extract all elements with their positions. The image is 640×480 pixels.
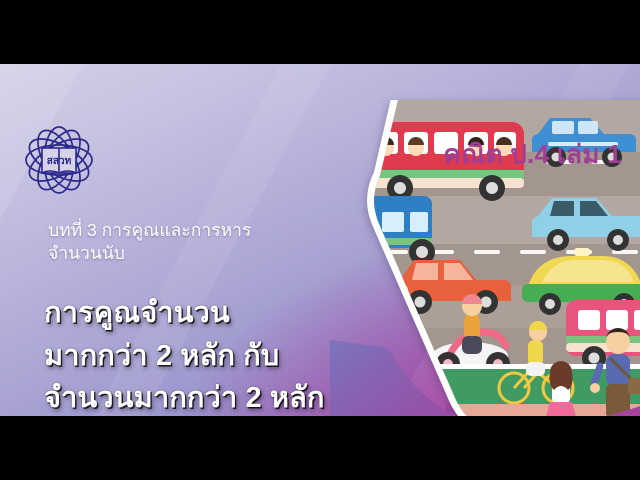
lesson-title: การคูณจำนวน มากกว่า 2 หลัก กับ จำนวนมากก… <box>44 292 394 416</box>
chapter-subtitle-line-2: จำนวนนับ <box>48 242 348 265</box>
ipst-logo: สสวท <box>22 122 96 198</box>
lesson-title-line-3: จำนวนมากกว่า 2 หลัก <box>44 377 394 416</box>
slide-stage: สสวท บทที่ 3 การคูณและการหาร จำนวนนับ กา… <box>0 0 640 480</box>
bike-lane-symbol <box>402 378 444 398</box>
letterbox-bottom-bar <box>0 416 640 480</box>
logo-book-text: สสวท <box>47 156 72 167</box>
sidewalk-band <box>352 404 640 416</box>
letterbox-top-bar <box>0 0 640 64</box>
jogger <box>391 309 411 376</box>
chapter-subtitle-line-1: บทที่ 3 การคูณและการหาร <box>48 219 348 242</box>
lesson-title-line-2: มากกว่า 2 หลัก กับ <box>44 335 394 378</box>
chapter-subtitle: บทที่ 3 การคูณและการหาร จำนวนนับ <box>48 219 348 266</box>
lesson-title-line-1: การคูณจำนวน <box>44 292 394 335</box>
book-label: คณิต ป.4 เล่ม 1 <box>443 134 622 175</box>
slide-content: สสวท บทที่ 3 การคูณและการหาร จำนวนนับ กา… <box>0 64 640 416</box>
